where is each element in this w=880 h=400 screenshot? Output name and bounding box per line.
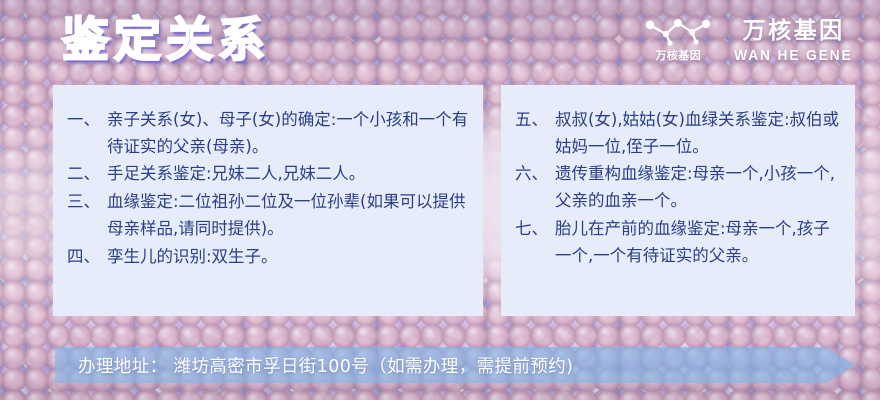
brand-mark: 万核基因 [639,16,717,66]
brand-name-en: WAN HE GENE [734,48,852,63]
list-item-marker: 一、 [67,107,107,134]
list-item: 二、 手足关系鉴定:兄妹二人,兄妹二人。 [67,161,469,188]
panel-right: 五、 叔叔(女),姑姑(女)血绿关系鉴定:叔伯或姑妈一位,侄子一位。 六、 遗传… [501,85,855,316]
list-item-marker: 四、 [67,244,107,271]
page-title: 鉴定关系 [62,17,270,64]
list-item: 五、 叔叔(女),姑姑(女)血绿关系鉴定:叔伯或姑妈一位,侄子一位。 [515,107,841,160]
list-item-marker: 七、 [515,216,555,243]
content-panels: 一、 亲子关系(女)、母子(女)的确定:一个小孩和一个有待证实的父亲(母亲)。 … [53,85,855,316]
brand-logo: 万核基因 万核基因 WAN HE GENE [639,16,858,66]
list-item-marker: 五、 [515,107,555,134]
list-item-text: 叔叔(女),姑姑(女)血绿关系鉴定:叔伯或姑妈一位,侄子一位。 [555,107,841,160]
footer-address-text: 办理地址： 潍坊高密市孚日街100号（如需办理，需提前预约) [78,347,573,383]
list-item: 三、 血缘鉴定:二位祖孙二位及一位孙辈(如果可以提供母亲样品,请同时提供)。 [67,189,469,242]
brand-name-cn: 万核基因 [743,20,845,43]
panel-left: 一、 亲子关系(女)、母子(女)的确定:一个小孩和一个有待证实的父亲(母亲)。 … [53,85,483,316]
list-item: 一、 亲子关系(女)、母子(女)的确定:一个小孩和一个有待证实的父亲(母亲)。 [67,107,469,160]
list-item: 四、 孪生儿的识别:双生子。 [67,244,469,271]
poster-canvas: 鉴定关系 [0,0,880,400]
list-item-text: 血缘鉴定:二位祖孙二位及一位孙辈(如果可以提供母亲样品,请同时提供)。 [107,189,469,242]
list-item-text: 胎儿在产前的血缘鉴定:母亲一个,孩子一个,一个有待证实的父亲。 [555,216,841,269]
list-item: 七、 胎儿在产前的血缘鉴定:母亲一个,孩子一个,一个有待证实的父亲。 [515,216,841,269]
list-item-marker: 三、 [67,189,107,216]
list-item-text: 亲子关系(女)、母子(女)的确定:一个小孩和一个有待证实的父亲(母亲)。 [107,107,469,160]
list-item: 六、 遗传重构血缘鉴定:母亲一个,小孩一个,父亲的血亲一个。 [515,161,841,214]
list-item-text: 孪生儿的识别:双生子。 [107,244,469,271]
brand-mark-label: 万核基因 [655,47,701,63]
list-item-marker: 二、 [67,161,107,188]
molecule-icon [640,16,716,46]
brand-wordmark: 万核基因 WAN HE GENE [729,20,858,63]
list-item-marker: 六、 [515,161,555,188]
list-item-text: 遗传重构血缘鉴定:母亲一个,小孩一个,父亲的血亲一个。 [555,161,841,214]
list-item-text: 手足关系鉴定:兄妹二人,兄妹二人。 [107,161,469,188]
